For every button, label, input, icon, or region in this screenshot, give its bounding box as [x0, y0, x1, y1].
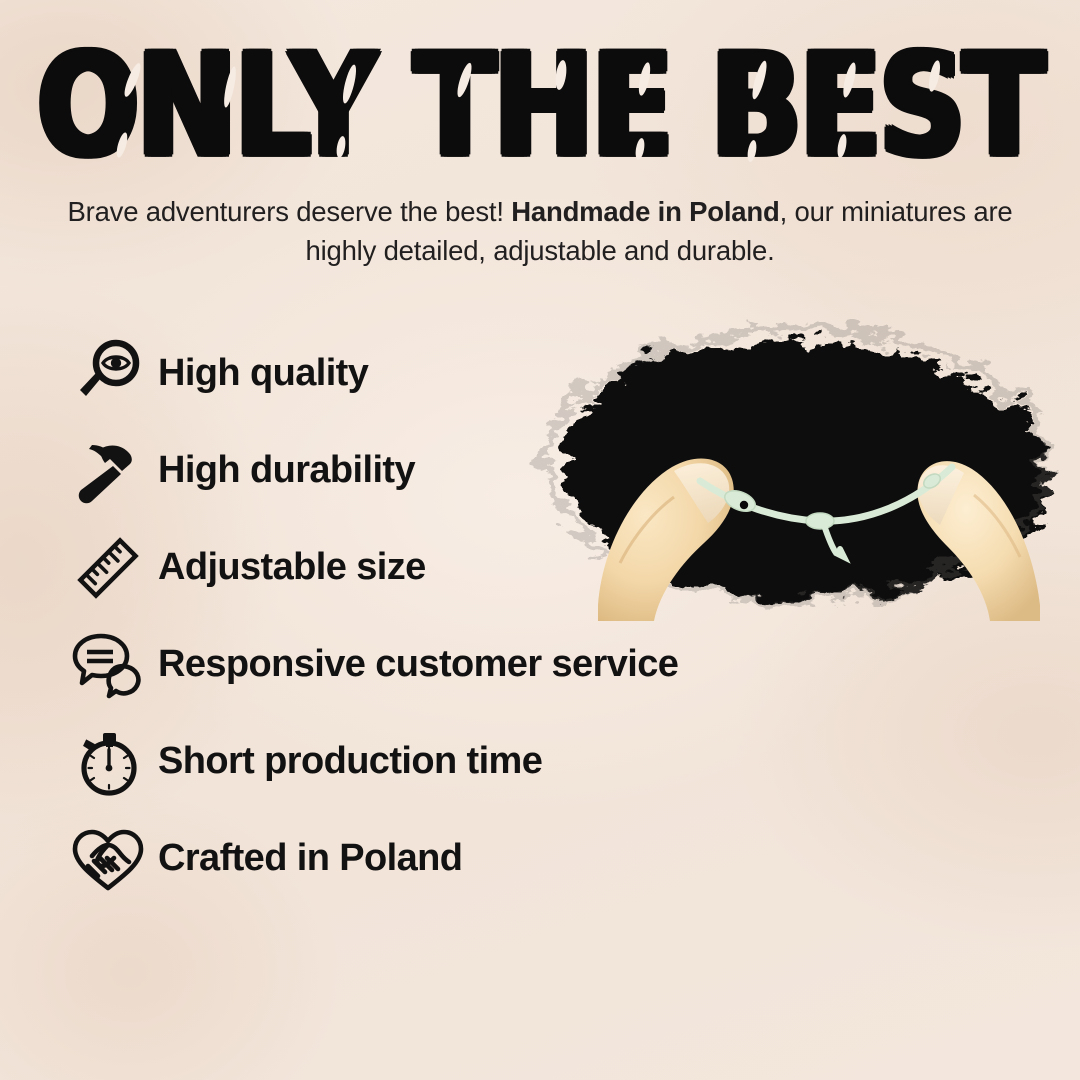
feature-item-high-quality: High quality	[66, 325, 806, 422]
feature-label: Crafted in Poland	[158, 837, 462, 880]
feature-label: Short production time	[158, 740, 542, 783]
right-hand	[848, 910, 1020, 1080]
feature-label: Adjustable size	[158, 546, 426, 589]
feature-list: High quality High durability	[66, 325, 806, 907]
feature-label: High quality	[158, 352, 368, 395]
ruler-icon	[66, 528, 150, 608]
magnifier-eye-icon	[66, 334, 150, 414]
feature-label: High durability	[158, 449, 415, 492]
subtitle: Brave adventurers deserve the best! Hand…	[60, 192, 1020, 270]
feature-item-responsive-service: Responsive customer service	[66, 616, 806, 713]
feature-item-high-durability: High durability	[66, 422, 806, 519]
feature-item-adjustable-size: Adjustable size	[66, 519, 806, 616]
handshake-heart-icon	[66, 819, 150, 899]
feature-label: Responsive customer service	[158, 643, 678, 686]
feature-item-crafted-in-poland: Crafted in Poland	[66, 810, 806, 907]
stopwatch-icon	[66, 722, 150, 802]
small-miniature	[988, 968, 1016, 1000]
hammer-icon	[66, 431, 150, 511]
shelf-trays-second	[910, 800, 1030, 816]
page-title: ONLY THE BEST	[37, 36, 1042, 178]
feature-item-short-production-time: Short production time	[66, 713, 806, 810]
subtitle-lead: Brave adventurers deserve the best!	[67, 196, 511, 227]
promo-poster: ONLY THE BEST Brave adventurers deserve …	[0, 0, 1080, 1080]
title-container: ONLY THE BEST	[0, 36, 1080, 152]
speech-bubbles-icon	[66, 625, 150, 705]
hobby-knife	[880, 761, 1011, 1020]
left-hand	[672, 900, 837, 1080]
subtitle-highlight: Handmade in Poland	[511, 196, 779, 227]
